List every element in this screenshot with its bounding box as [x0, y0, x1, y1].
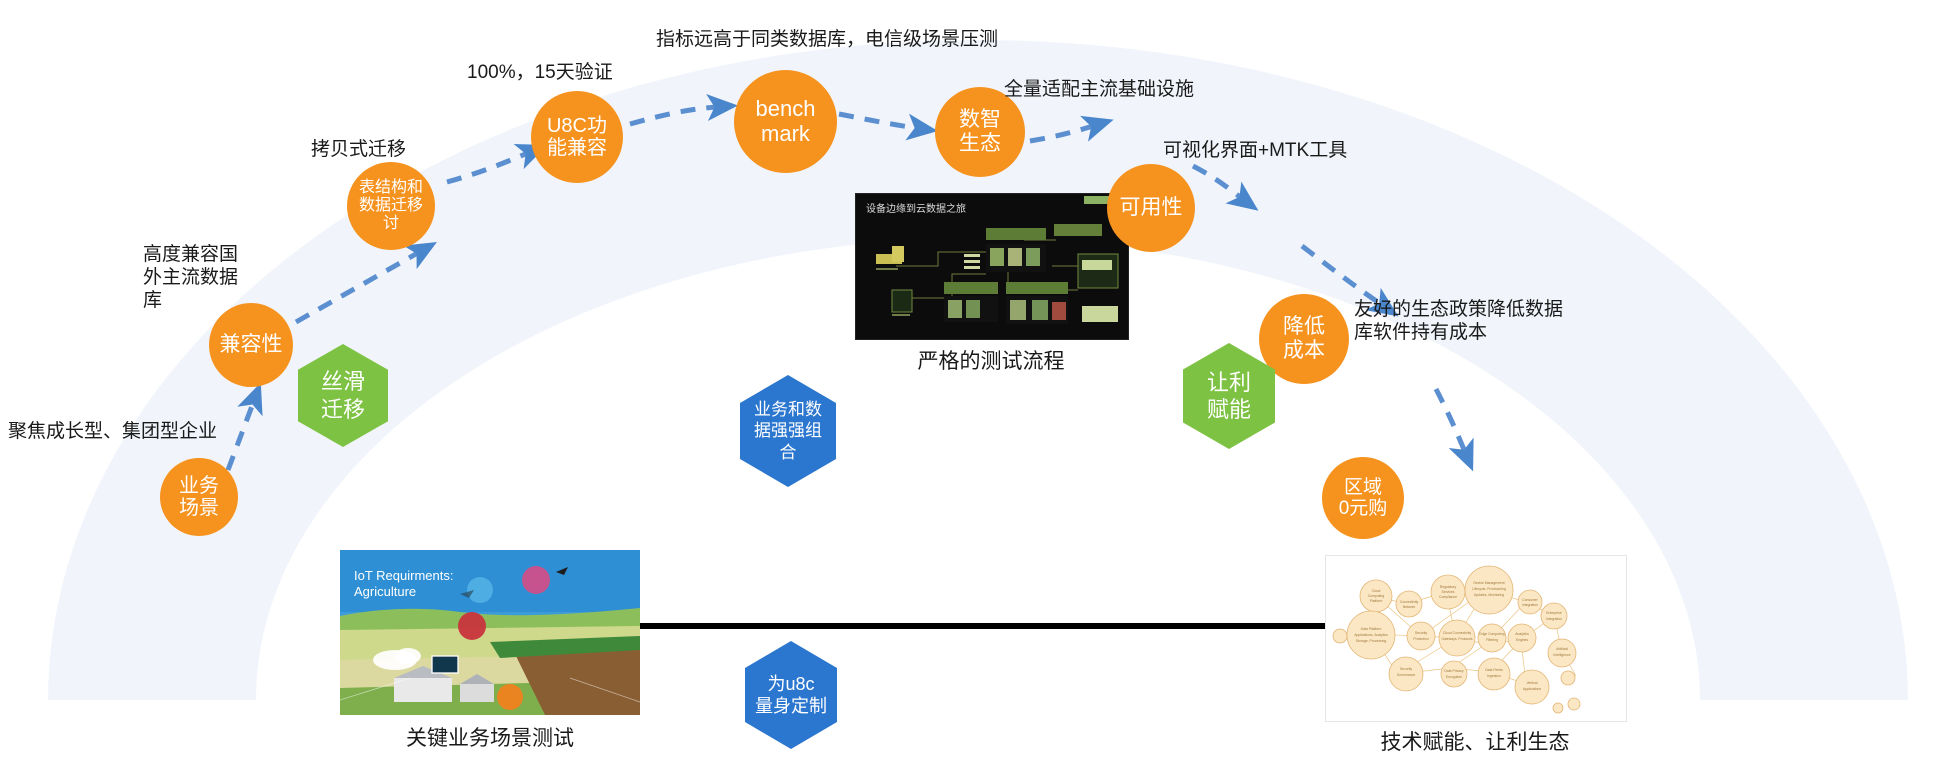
node-compatibility[interactable]: 兼容性 — [209, 303, 293, 387]
svg-text:Data Platform: Data Platform — [1361, 627, 1382, 631]
hexagon-label: 为u8c 量身定制 — [755, 673, 827, 718]
caption-rigorous-test-process: 严格的测试流程 — [851, 345, 1131, 375]
svg-text:Engines: Engines — [1516, 638, 1529, 642]
caption-key-business-scenario-test: 关键业务场景测试 — [330, 722, 650, 752]
node-label: 降低 成本 — [1283, 315, 1325, 362]
node-table-data-migration[interactable]: 表结构和 数据迁移 讨 — [347, 162, 435, 250]
svg-text:Applications, Analytics: Applications, Analytics — [1354, 633, 1388, 637]
caption-tech-enable-profit-eco: 技术赋能、让利生态 — [1315, 726, 1635, 756]
svg-text:Lifecycle, Provisioning: Lifecycle, Provisioning — [1472, 587, 1506, 591]
svg-text:Intelligence: Intelligence — [1553, 653, 1570, 657]
tech-network-image: CloudComputing Platform ConnectivityNetw… — [1325, 555, 1627, 722]
iot-agriculture-image: IoT Requirments: Agriculture — [340, 550, 640, 715]
svg-text:Storage, Processing: Storage, Processing — [1356, 639, 1387, 643]
node-label: 表结构和 数据迁移 讨 — [359, 179, 423, 233]
svg-text:Filtering: Filtering — [1486, 638, 1498, 642]
annotation-focus-enterprises: 聚焦成长型、集团型企业 — [8, 420, 217, 443]
svg-text:Encryption: Encryption — [1446, 675, 1462, 679]
svg-text:Protection: Protection — [1413, 637, 1428, 641]
svg-text:Data Feeds: Data Feeds — [1485, 668, 1503, 672]
svg-text:Device Management: Device Management — [1473, 581, 1504, 585]
svg-text:Vertical: Vertical — [1526, 681, 1537, 685]
svg-text:Governance: Governance — [1397, 673, 1416, 677]
node-label: 区域 0元购 — [1339, 477, 1388, 520]
svg-text:Analytics: Analytics — [1515, 632, 1529, 636]
svg-text:Regulatory: Regulatory — [1440, 585, 1457, 589]
svg-text:Platform: Platform — [1370, 599, 1383, 603]
svg-text:Gateways, Protocols: Gateways, Protocols — [1441, 637, 1472, 641]
svg-text:Services: Services — [1441, 590, 1454, 594]
svg-text:Cloud Connectivity: Cloud Connectivity — [1443, 631, 1472, 635]
node-label: 业务 场景 — [179, 475, 219, 520]
svg-text:Agriculture: Agriculture — [354, 584, 416, 599]
node-label: bench mark — [756, 97, 816, 146]
annotation-full-adaptation: 全量适配主流基础设施 — [1004, 78, 1194, 101]
annotation-high-compatibility: 高度兼容国 外主流数据 库 — [143, 243, 238, 313]
svg-text:Security: Security — [1415, 631, 1428, 635]
node-u8c-function-compat[interactable]: U8C功 能兼容 — [531, 91, 623, 183]
hexagon-label: 业务和数 据强强组 合 — [754, 399, 822, 463]
svg-text:Network: Network — [1403, 605, 1416, 609]
svg-text:Artificial: Artificial — [1556, 647, 1568, 651]
svg-text:Ingestion: Ingestion — [1487, 674, 1501, 678]
svg-text:Consumer: Consumer — [1522, 598, 1539, 602]
node-label: U8C功 能兼容 — [547, 115, 607, 160]
svg-text:Connectivity: Connectivity — [1400, 600, 1419, 604]
edge-to-cloud-image: 设备边缘到云数据之旅 — [855, 193, 1129, 340]
node-benchmark[interactable]: bench mark — [734, 70, 837, 173]
svg-text:IoT Requirments:: IoT Requirments: — [354, 568, 453, 583]
annotation-metrics-superior: 指标远高于同类数据库，电信级场景压测 — [656, 28, 998, 51]
node-label: 数智 生态 — [959, 108, 1001, 155]
node-region-zero-yuan[interactable]: 区域 0元购 — [1322, 457, 1404, 539]
svg-text:Integration: Integration — [1546, 617, 1562, 621]
svg-text:Computing: Computing — [1368, 594, 1385, 598]
node-label: 可用性 — [1120, 196, 1183, 220]
node-availability[interactable]: 可用性 — [1107, 164, 1195, 252]
hexagon-label: 让利 赋能 — [1207, 369, 1251, 424]
annotation-copy-migration: 拷贝式迁移 — [311, 138, 406, 161]
svg-text:Integration: Integration — [1522, 603, 1538, 607]
svg-text:Security: Security — [1400, 667, 1413, 671]
node-business-scenario[interactable]: 业务 场景 — [160, 458, 238, 536]
svg-text:Edge Computing: Edge Computing — [1479, 632, 1504, 636]
svg-text:Data Privacy: Data Privacy — [1444, 669, 1464, 673]
annotation-verify-15-days: 100%，15天验证 — [467, 61, 613, 84]
svg-text:Compliance: Compliance — [1439, 595, 1457, 599]
annotation-visual-mtk-tools: 可视化界面+MTK工具 — [1163, 139, 1347, 162]
svg-text:设备边缘到云数据之旅: 设备边缘到云数据之旅 — [866, 202, 966, 215]
diagram-canvas: IoT Requirments: Agriculture 设备边缘到云数据之旅 — [0, 0, 1945, 782]
node-label: 兼容性 — [220, 333, 283, 357]
svg-text:Applications: Applications — [1523, 687, 1542, 691]
svg-text:Updates, Monitoring: Updates, Monitoring — [1474, 593, 1504, 597]
svg-text:Enterprise: Enterprise — [1546, 611, 1562, 615]
svg-text:Cloud: Cloud — [1372, 589, 1381, 593]
hexagon-label: 丝滑 迁移 — [321, 368, 365, 423]
annotation-friendly-eco-policy: 友好的生态政策降低数据 库软件持有成本 — [1354, 298, 1563, 344]
